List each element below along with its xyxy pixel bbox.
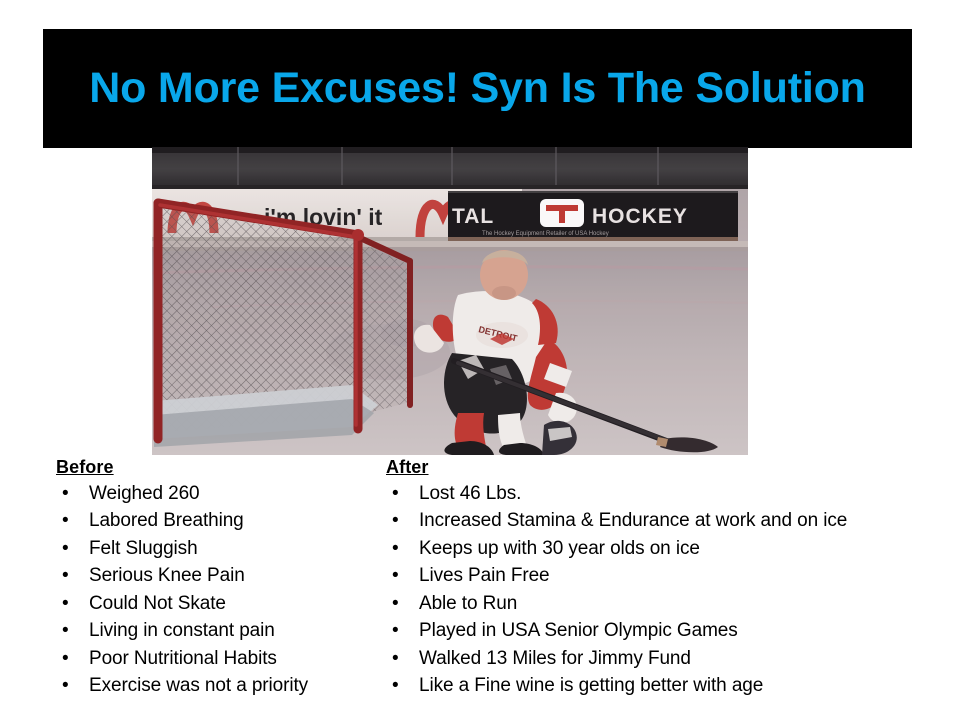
bullet-icon: •: [392, 672, 399, 700]
before-column: Before •Weighed 260•Labored Breathing•Fe…: [56, 456, 386, 700]
hockey-photo-illustration: i'm lovin' it TAL HOCKEY The Hockey Equi…: [152, 147, 748, 455]
page-title: No More Excuses! Syn Is The Solution: [89, 67, 866, 110]
bullet-icon: •: [62, 590, 69, 618]
after-list-item: •Lives Pain Free: [386, 562, 946, 590]
before-list-item-label: Serious Knee Pain: [89, 565, 245, 586]
before-list-item-label: Living in constant pain: [89, 620, 275, 641]
bullet-icon: •: [392, 617, 399, 645]
before-list-item-label: Weighed 260: [89, 483, 200, 504]
after-list-item-label: Like a Fine wine is getting better with …: [419, 675, 763, 696]
before-list-item: •Could Not Skate: [56, 590, 386, 618]
bullet-icon: •: [392, 480, 399, 508]
bullet-icon: •: [392, 645, 399, 673]
before-list-item-label: Felt Sluggish: [89, 538, 198, 559]
after-list-item: •Walked 13 Miles for Jimmy Fund: [386, 645, 946, 673]
bullet-icon: •: [62, 535, 69, 563]
before-list-item: •Serious Knee Pain: [56, 562, 386, 590]
bullet-icon: •: [62, 645, 69, 673]
after-list-item-label: Keeps up with 30 year olds on ice: [419, 538, 700, 559]
after-heading: After: [386, 456, 946, 479]
after-list-item-label: Walked 13 Miles for Jimmy Fund: [419, 648, 691, 669]
after-list-item-label: Increased Stamina & Endurance at work an…: [419, 510, 847, 531]
before-list-item: •Exercise was not a priority: [56, 672, 386, 700]
after-list-item: •Played in USA Senior Olympic Games: [386, 617, 946, 645]
before-list-item-label: Exercise was not a priority: [89, 675, 308, 696]
bullet-icon: •: [62, 507, 69, 535]
before-list-item-label: Poor Nutritional Habits: [89, 648, 277, 669]
bullet-icon: •: [392, 535, 399, 563]
before-list-item: •Labored Breathing: [56, 507, 386, 535]
after-list-item: •Like a Fine wine is getting better with…: [386, 672, 946, 700]
after-list-item-label: Lives Pain Free: [419, 565, 550, 586]
before-heading: Before: [56, 456, 386, 479]
after-list-item-label: Able to Run: [419, 593, 517, 614]
before-list-item: •Living in constant pain: [56, 617, 386, 645]
after-list-item-label: Played in USA Senior Olympic Games: [419, 620, 738, 641]
after-list-item: •Able to Run: [386, 590, 946, 618]
bullet-icon: •: [62, 672, 69, 700]
bullet-icon: •: [392, 507, 399, 535]
bullet-icon: •: [62, 617, 69, 645]
after-list-item: •Lost 46 Lbs.: [386, 480, 946, 508]
before-list-item: •Poor Nutritional Habits: [56, 645, 386, 673]
before-list-item: •Felt Sluggish: [56, 535, 386, 563]
before-list: •Weighed 260•Labored Breathing•Felt Slug…: [56, 480, 386, 700]
bullet-icon: •: [62, 480, 69, 508]
bullet-icon: •: [392, 562, 399, 590]
before-list-item-label: Could Not Skate: [89, 593, 226, 614]
after-list-item: •Keeps up with 30 year olds on ice: [386, 535, 946, 563]
bullet-icon: •: [62, 562, 69, 590]
hockey-photo: i'm lovin' it TAL HOCKEY The Hockey Equi…: [152, 147, 748, 455]
after-list-item-label: Lost 46 Lbs.: [419, 483, 521, 504]
before-list-item-label: Labored Breathing: [89, 510, 244, 531]
bullet-icon: •: [392, 590, 399, 618]
before-list-item: •Weighed 260: [56, 480, 386, 508]
after-column: After •Lost 46 Lbs.•Increased Stamina & …: [386, 456, 946, 700]
title-banner: No More Excuses! Syn Is The Solution: [43, 29, 912, 148]
after-list-item: •Increased Stamina & Endurance at work a…: [386, 507, 946, 535]
after-list: •Lost 46 Lbs.•Increased Stamina & Endura…: [386, 480, 946, 700]
